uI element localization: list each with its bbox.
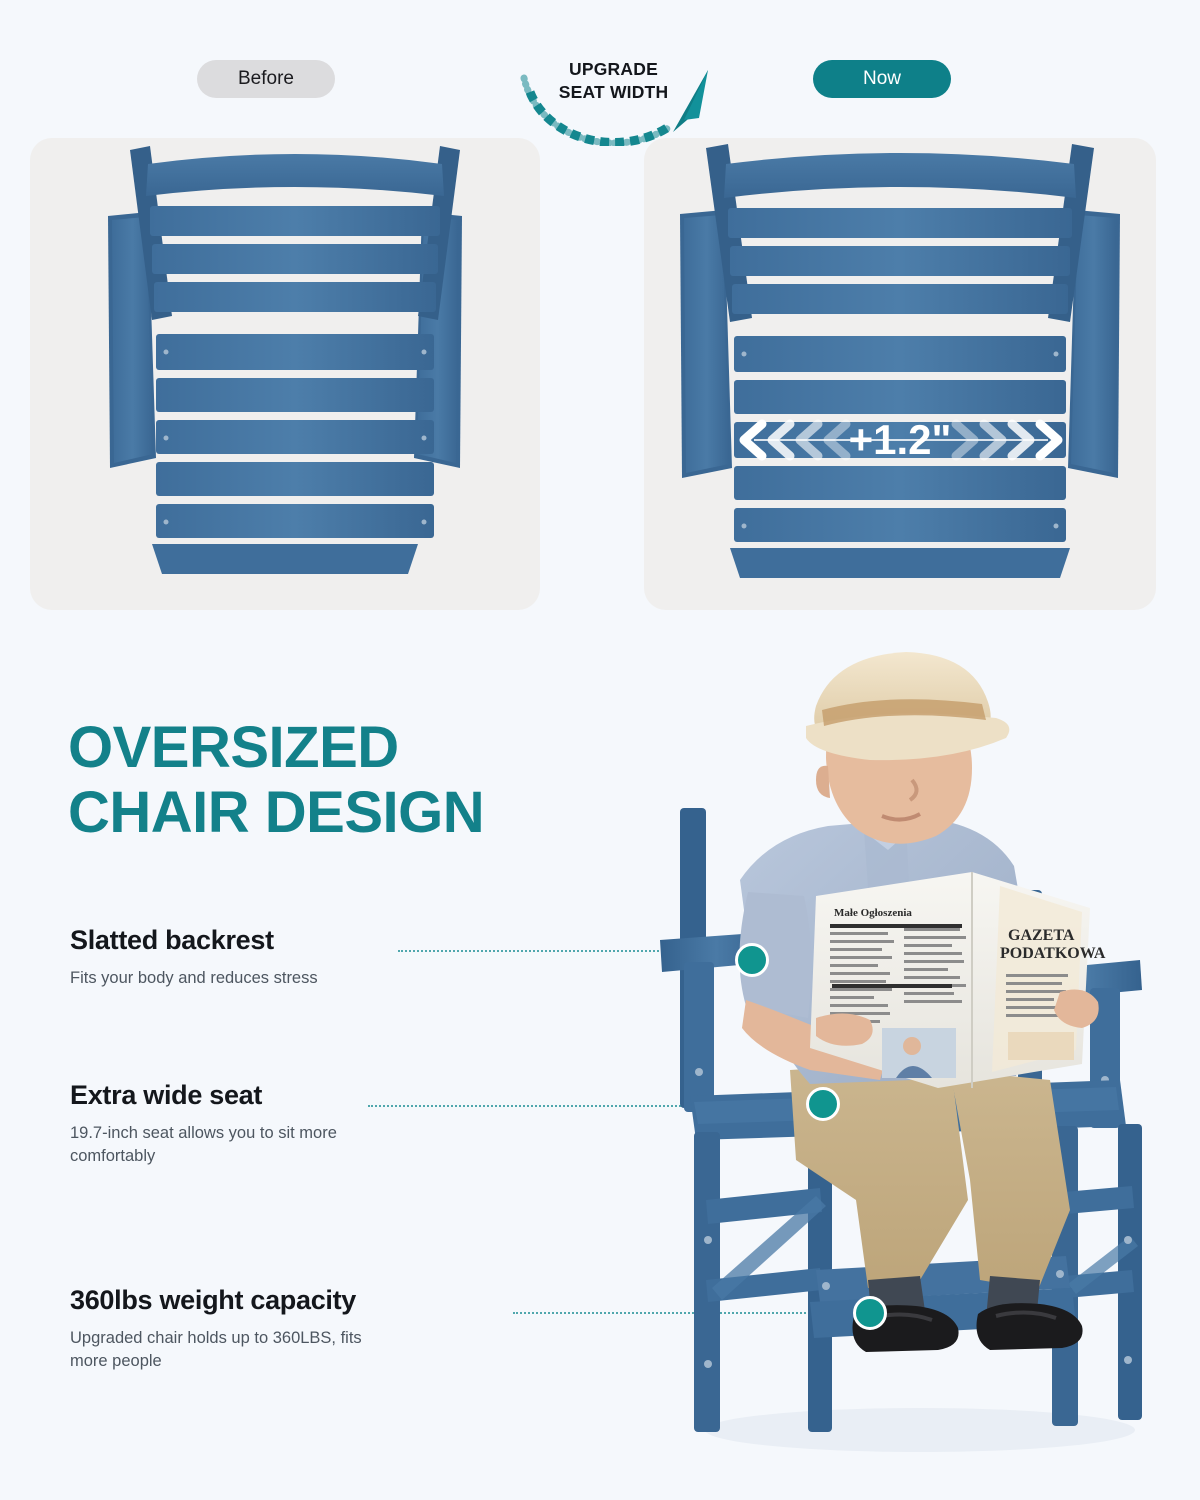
feature-title: 360lbs weight capacity: [70, 1285, 540, 1316]
svg-text:GAZETA: GAZETA: [1008, 927, 1075, 944]
svg-text:PODATKOWA: PODATKOWA: [1000, 945, 1106, 962]
upgrade-callout: UPGRADE SEAT WIDTH: [508, 48, 713, 146]
headline-line-1: OVERSIZED: [68, 716, 668, 781]
man-reading-newspaper-illustration: Małe Ogłoszenia GAZETA PODATKOWA: [620, 640, 1180, 1460]
upgrade-line-2: SEAT WIDTH: [546, 81, 681, 104]
feature-weight-capacity: 360lbs weight capacity Upgraded chair ho…: [70, 1285, 540, 1374]
badge-now-label: Now: [863, 68, 901, 90]
badge-before: Before: [197, 60, 335, 98]
page-title: OVERSIZED CHAIR DESIGN: [68, 716, 668, 846]
hotspot-extra-wide-seat[interactable]: [806, 1087, 840, 1121]
badge-now: Now: [813, 60, 951, 98]
feature-description: Fits your body and reduces stress: [70, 967, 370, 990]
panel-now-chair: +1.2": [644, 138, 1156, 610]
upgrade-callout-text: UPGRADE SEAT WIDTH: [546, 58, 681, 104]
hotspot-slatted-backrest[interactable]: [735, 943, 769, 977]
feature-description: Upgraded chair holds up to 360LBS, fits …: [70, 1327, 370, 1374]
feature-description: 19.7-inch seat allows you to sit more co…: [70, 1122, 370, 1169]
product-photo-man-in-chair: Małe Ogłoszenia GAZETA PODATKOWA: [620, 640, 1180, 1460]
feature-extra-wide-seat: Extra wide seat 19.7-inch seat allows yo…: [70, 1080, 540, 1169]
hotspot-weight-capacity[interactable]: [853, 1296, 887, 1330]
badge-before-label: Before: [238, 68, 294, 90]
feature-slatted-backrest: Slatted backrest Fits your body and redu…: [70, 925, 540, 990]
svg-text:Małe Ogłoszenia: Małe Ogłoszenia: [834, 907, 912, 919]
panel-before-chair: [30, 138, 540, 610]
upgrade-line-1: UPGRADE: [546, 58, 681, 81]
now-chair-illustration: +1.2": [644, 138, 1156, 610]
before-chair-illustration: [30, 138, 540, 610]
width-increase-label: +1.2": [849, 416, 952, 463]
headline-line-2: CHAIR DESIGN: [68, 781, 668, 846]
